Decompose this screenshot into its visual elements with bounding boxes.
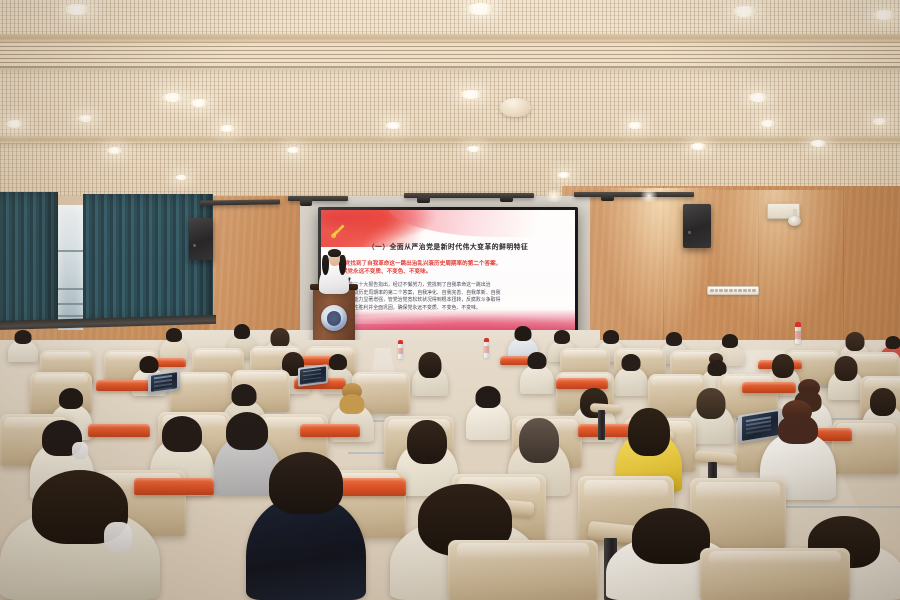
attendee: [0, 470, 160, 600]
water-bottle: [484, 338, 489, 358]
recessed-downlight: [872, 118, 888, 125]
wall-speaker-left: [189, 218, 213, 260]
track-light-rail: [574, 192, 694, 197]
recessed-downlight: [466, 3, 496, 15]
slide-highlight-line-1: 8、党找到了自我革命这一跳出治乱兴衰历史周期率的第二个答案，: [336, 260, 565, 268]
ceiling: [0, 0, 900, 196]
recessed-downlight: [748, 93, 769, 102]
ceiling-dome-fixture: [500, 98, 531, 117]
presenter: [317, 248, 351, 294]
auditorium-seat[interactable]: [700, 548, 850, 600]
projection-screen: （一）全面从严治党是新时代伟大变革的鲜明特征 8、党找到了自我革命这一跳出治乱兴…: [318, 207, 578, 337]
ceiling-panel-row: [0, 70, 900, 138]
recessed-downlight: [78, 115, 94, 122]
recessed-downlight: [466, 146, 482, 152]
presenter-hair-left: [322, 255, 329, 275]
water-bottle: [398, 340, 403, 359]
recessed-downlight: [162, 93, 184, 102]
slide-body-line-1: 党的二十大报告指出，经过不懈努力，党找到了自我革命这一跳出治: [344, 282, 562, 290]
slide-body-line-2: 乱兴衰历史周期率的第二个答案，自我净化、自我完善、自我革新、自我: [344, 290, 562, 298]
dome-camera: [788, 216, 801, 226]
recessed-downlight: [64, 4, 92, 15]
seat-cushion[interactable]: [96, 380, 150, 391]
lecture-hall-photo: （一）全面从严治党是新时代伟大变革的鲜明特征 8、党找到了自我革命这一跳出治乱兴…: [0, 0, 900, 600]
wall-speaker-right: [683, 204, 711, 248]
spotlight-glow: [543, 190, 565, 202]
track-light-rail: [288, 196, 348, 201]
institution-seal: [321, 305, 347, 331]
recessed-downlight: [460, 90, 483, 99]
attendee: [614, 354, 648, 396]
track-spotlight: [417, 196, 430, 203]
ceiling-panel-row: [0, 0, 900, 36]
window: [58, 205, 83, 330]
recessed-downlight: [175, 175, 188, 180]
recessed-downlight: [627, 122, 644, 129]
laptop-computer[interactable]: [298, 364, 328, 387]
slide-body: 党的二十大报告指出，经过不懈努力，党找到了自我革命这一跳出治 乱兴衰历史周期率的…: [344, 282, 562, 312]
track-spotlight: [300, 199, 312, 206]
recessed-downlight: [219, 125, 236, 132]
water-bottle: [795, 322, 801, 344]
slide-title: （一）全面从严治党是新时代伟大变革的鲜明特征: [321, 241, 575, 251]
step-edge: [772, 506, 900, 508]
presenter-hair-right: [339, 255, 346, 275]
auditorium-seat[interactable]: [448, 540, 598, 600]
attendee: [246, 452, 366, 600]
ceiling-rib: [0, 34, 900, 41]
attendee: [8, 330, 38, 362]
attendee: [412, 352, 448, 396]
recessed-downlight: [286, 147, 301, 153]
recessed-downlight: [6, 120, 24, 128]
window-curtain: [0, 192, 58, 326]
linear-air-diffuser: [0, 42, 900, 68]
presenter-hair: [328, 249, 341, 257]
slide-body-line-3: 提高能力显著增强，管党治党宽松软状况得到根本扭转，反腐败斗争取得: [344, 297, 562, 305]
power-outlet-strip: [707, 286, 759, 295]
spotlight-glow: [638, 190, 660, 202]
seat-leg: [598, 410, 605, 440]
attendee: [466, 386, 510, 440]
recessed-downlight: [557, 172, 571, 178]
slide-highlight-line-2: 确保党永远不变质、不变色、不变味。: [336, 268, 565, 276]
track-spotlight: [601, 194, 614, 201]
recessed-downlight: [810, 140, 827, 147]
recessed-downlight: [873, 10, 897, 20]
recessed-downlight: [385, 122, 403, 129]
track-spotlight: [500, 195, 513, 202]
slide-highlight: 8、党找到了自我革命这一跳出治乱兴衰历史周期率的第二个答案， 确保党永远不变质、…: [336, 260, 565, 277]
recessed-downlight: [690, 143, 707, 150]
attendee: [520, 352, 554, 394]
presentation-slide: （一）全面从严治党是新时代伟大变革的鲜明特征 8、党找到了自我革命这一跳出治乱兴…: [321, 210, 575, 334]
ceiling-rib: [0, 136, 900, 143]
seat-cushion[interactable]: [300, 424, 360, 437]
recessed-downlight: [732, 6, 758, 17]
recessed-downlight: [760, 120, 776, 127]
attendee: [828, 356, 864, 400]
recessed-downlight: [190, 99, 209, 107]
recessed-downlight: [107, 147, 123, 154]
seat-cushion[interactable]: [88, 424, 150, 437]
